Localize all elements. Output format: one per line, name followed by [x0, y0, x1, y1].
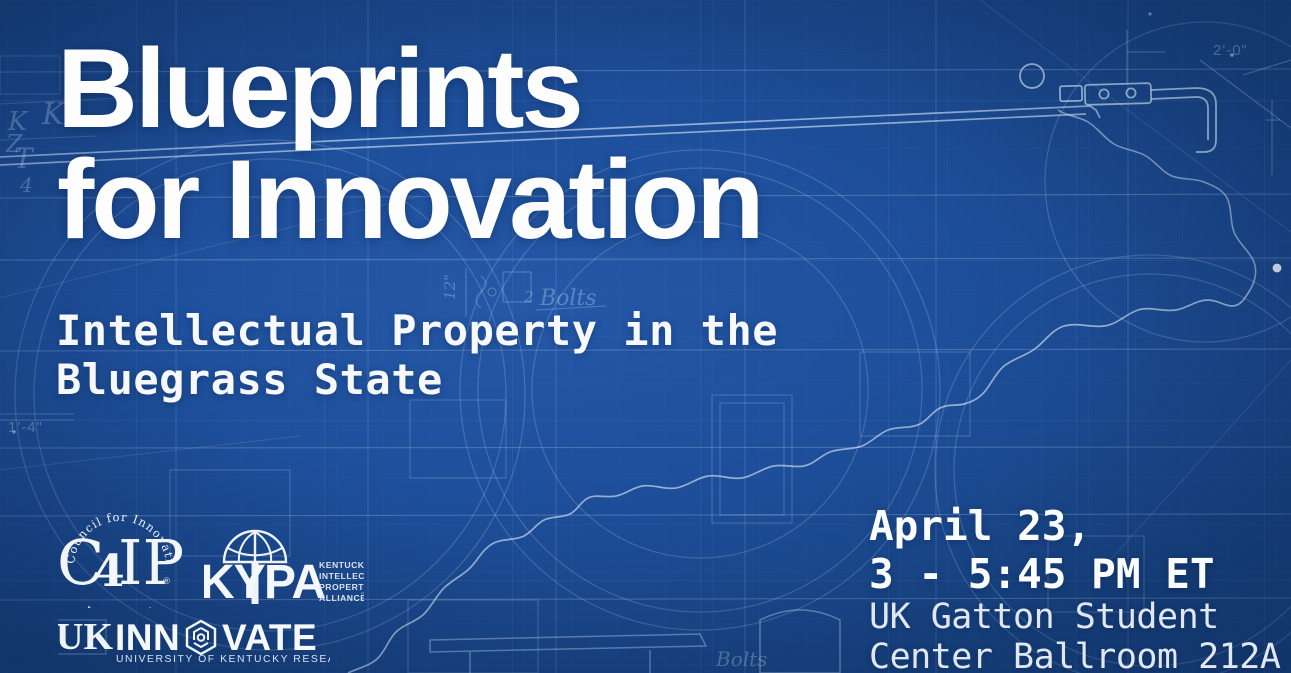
- subtitle-line-2: Bluegrass State: [56, 355, 916, 404]
- c4ip-arc-text-bottom: Promotion: [80, 603, 158, 608]
- page-subtitle: Intellectual Property in the Bluegrass S…: [56, 306, 916, 404]
- title-line-1: Blueprints: [57, 34, 1117, 145]
- uk-innovate-tagline: UNIVERSITY OF KENTUCKY RESEARCH: [116, 654, 330, 664]
- sponsor-logos: C 4 IP ® Council for Innovation Promotio…: [58, 512, 388, 664]
- c4ip-circular-wordmark-logo: C 4 IP ® Council for Innovation Promotio…: [58, 512, 188, 608]
- kyipa-logo: KY PA KENTUCKY INTELLECTUAL PROPERTY ALL…: [204, 518, 364, 608]
- kyipa-tagline-line-2: INTELLECTUAL: [319, 571, 364, 581]
- poster-canvas: 2'-0" K K T Z 4 Bolts 2: [0, 0, 1291, 673]
- event-date: April 23,: [869, 503, 1279, 551]
- uk-innovate-logo: UK INN VATE U: [58, 616, 330, 664]
- kyipa-tagline-line-1: KENTUCKY: [319, 560, 364, 570]
- innovate-wordmark-left: INN: [115, 617, 180, 658]
- kyipa-tagline-line-3: PROPERTY: [319, 582, 364, 592]
- logo-uk-innovate: UK INN VATE U: [58, 616, 330, 664]
- event-venue-line-1: UK Gatton Student: [869, 598, 1279, 638]
- page-title: Blueprints for Innovation: [57, 34, 1117, 256]
- uk-monogram-text: UK: [58, 616, 113, 658]
- title-line-2: for Innovation: [57, 145, 1117, 256]
- kyipa-wordmark-right: PA: [264, 556, 325, 608]
- kyipa-wordmark-left: KY: [204, 556, 266, 608]
- kyipa-tagline-line-4: ALLIANCE: [319, 593, 364, 603]
- uk-monogram-icon: UK: [58, 616, 113, 658]
- hexagon-knot-icon: [187, 621, 215, 654]
- event-time: 3 - 5:45 PM ET: [869, 551, 1279, 599]
- sponsor-logos-row-1: C 4 IP ® Council for Innovation Promotio…: [58, 512, 388, 608]
- event-venue-line-2: Center Ballroom 212A: [869, 638, 1279, 673]
- subtitle-line-1: Intellectual Property in the: [56, 306, 916, 355]
- kyipa-trademark-icon: ™: [360, 592, 364, 599]
- innovate-wordmark-right: VATE: [222, 617, 317, 658]
- logo-c4ip: C 4 IP ® Council for Innovation Promotio…: [58, 512, 188, 608]
- logo-kyipa: KY PA KENTUCKY INTELLECTUAL PROPERTY ALL…: [204, 518, 364, 608]
- event-details: April 23, 3 - 5:45 PM ET UK Gatton Stude…: [869, 503, 1279, 673]
- c4ip-registered-icon: ®: [162, 577, 171, 587]
